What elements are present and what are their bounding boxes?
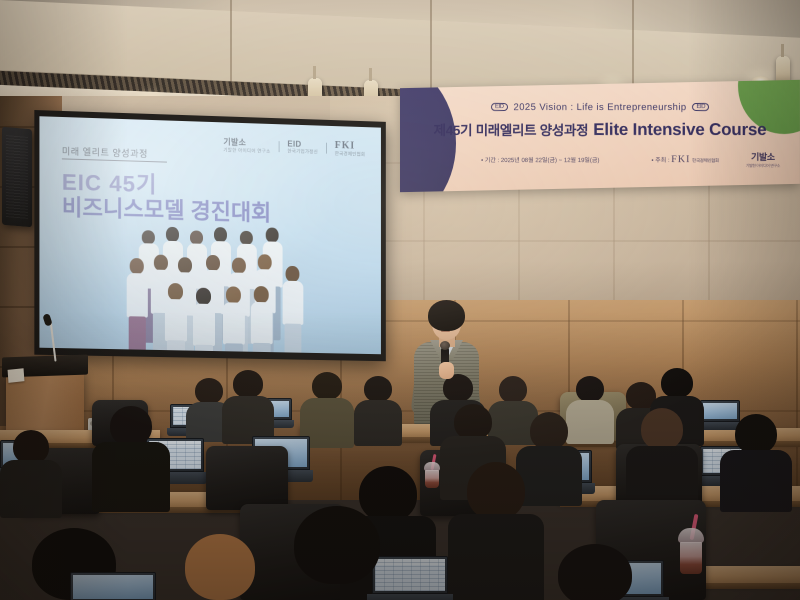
audience-person: [92, 406, 170, 506]
person-torso: [626, 446, 698, 508]
person-head: [499, 376, 527, 403]
banner-title-english: Elite Intensive Course: [593, 120, 766, 139]
person-head: [312, 372, 342, 400]
audience-person: [540, 544, 650, 600]
banner-host-prefix: • 주최 :: [651, 158, 669, 164]
slide-logo-fki: FKI 한국경제인협회: [335, 140, 366, 158]
audience-person: [354, 376, 402, 444]
person-head: [110, 406, 152, 446]
person-head: [641, 408, 683, 450]
person-torso: [720, 450, 792, 512]
cup-body: [680, 542, 702, 574]
banner-title-korean: 제45기 미래엘리트 양성과정: [434, 123, 589, 138]
banner-host-fki-sub: 한국경제인협회: [692, 158, 719, 163]
drink-cup[interactable]: [678, 528, 704, 574]
laptop-screen: [70, 572, 156, 600]
laptop[interactable]: [70, 572, 156, 600]
slide-eyebrow-text: 미래 엘리트 양성과정: [62, 144, 148, 160]
cup-lid: [678, 528, 704, 543]
person-head: [185, 534, 255, 600]
person-torso: [448, 514, 544, 600]
person-head: [195, 378, 223, 404]
projection-screen: 기발소 기발한 아이디어 연구소 EID 한국기업가정신 FKI 한국경제인협회…: [34, 110, 385, 361]
slide-logo-row: 기발소 기발한 아이디어 연구소 EID 한국기업가정신 FKI 한국경제인협회: [223, 136, 365, 157]
person-head: [530, 412, 568, 450]
podium-papers: [8, 368, 25, 383]
logo-divider: [278, 141, 279, 152]
audience-person: [626, 408, 698, 504]
slide-title-line-2: 비즈니스모델 경진대회: [62, 190, 271, 228]
banner-chip-right: EID: [692, 103, 709, 111]
audience-person: [720, 414, 792, 506]
banner-footer: • 기간 : 2025년 08월 22일(금) ~ 12월 19일(금) • 주…: [400, 154, 800, 165]
person-head: [735, 414, 777, 454]
banner-host-group: • 주최 : FKI 한국경제인협회: [651, 154, 719, 165]
person-head: [294, 506, 380, 584]
slide-logo-eid: EID 한국기업가정신: [287, 139, 318, 155]
slide-group-photo: [127, 224, 320, 355]
banner-period-text: • 기간 : 2025년 08월 22일(금) ~ 12월 19일(금): [481, 155, 599, 164]
person-head: [13, 430, 49, 464]
person-head: [454, 404, 492, 440]
banner-tagline: EID2025 Vision : Life is Entrepreneurshi…: [400, 102, 800, 113]
logo-divider: [326, 143, 327, 154]
person-torso: [0, 460, 62, 518]
wall-speaker-icon: [2, 127, 32, 228]
banner-tagline-text: 2025 Vision : Life is Entrepreneurship: [514, 102, 687, 113]
presenter-hair: [428, 300, 465, 331]
person-torso: [92, 442, 170, 512]
person-head: [576, 376, 604, 402]
ceiling-seam: [632, 0, 634, 96]
banner-host-fki-logo: FKI: [671, 154, 690, 165]
audience-person: [272, 506, 402, 600]
person-head: [233, 370, 263, 398]
audience-person: [168, 534, 272, 600]
banner-chip-left: EID: [491, 103, 508, 111]
audience-person: [300, 372, 354, 446]
slide-surface: 기발소 기발한 아이디어 연구소 EID 한국기업가정신 FKI 한국경제인협회…: [39, 116, 381, 354]
slide-divider-rule: [62, 158, 167, 162]
slide-logo-kibalso: 기발소 기발한 아이디어 연구소: [223, 136, 270, 154]
audience-person: [222, 370, 274, 442]
presenter-hands: [439, 362, 454, 379]
person-torso: [354, 400, 402, 446]
banner-title: 제45기 미래엘리트 양성과정Elite Intensive Course: [400, 119, 800, 140]
person-head: [661, 368, 693, 398]
ceiling-seam: [430, 0, 432, 96]
chair: [206, 446, 288, 510]
lecture-hall-photo: 기발소 기발한 아이디어 연구소 EID 한국기업가정신 FKI 한국경제인협회…: [0, 0, 800, 600]
person-head: [364, 376, 392, 402]
event-banner: EID2025 Vision : Life is Entrepreneurshi…: [400, 80, 800, 192]
banner-kibalso-logo: 기발소 기발한 아이디어 연구소: [746, 150, 780, 169]
audience-person: [448, 462, 544, 600]
person-head: [467, 462, 525, 520]
audience-person: [0, 430, 62, 514]
person-head: [558, 544, 632, 600]
